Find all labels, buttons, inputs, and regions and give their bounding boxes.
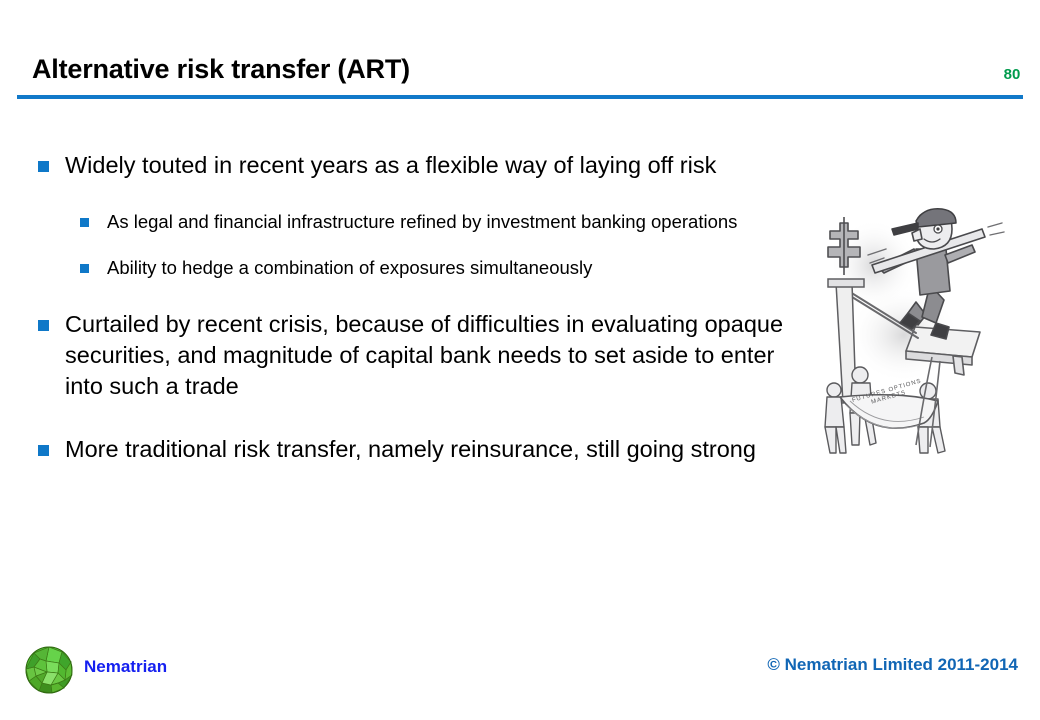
bullet-square-icon: [38, 161, 49, 172]
slide-body: Widely touted in recent years as a flexi…: [0, 150, 790, 471]
spacer: [0, 287, 790, 309]
bullet-level1: Widely touted in recent years as a flexi…: [0, 150, 790, 181]
tightrope-walker-drawing: [812, 205, 1008, 460]
bullet-text: As legal and financial infrastructure re…: [107, 209, 790, 235]
bullet-level1: Curtailed by recent crisis, because of d…: [0, 309, 790, 402]
bullet-level2: As legal and financial infrastructure re…: [0, 209, 790, 235]
bullet-text: Curtailed by recent crisis, because of d…: [65, 309, 790, 402]
page-number: 80: [992, 66, 1032, 83]
bullet-text: Ability to hedge a combination of exposu…: [107, 255, 790, 281]
bullet-square-icon: [80, 264, 89, 273]
spacer: [0, 187, 790, 209]
page-title: Alternative risk transfer (ART): [32, 54, 410, 85]
title-divider: [17, 95, 1023, 99]
bullet-level2: Ability to hedge a combination of exposu…: [0, 255, 790, 281]
bullet-square-icon: [38, 445, 49, 456]
nematrian-logo-text: Nematrian: [84, 657, 167, 677]
tightrope-walker-illustration: FUTURES OPTIONS MARKETS: [812, 205, 1008, 460]
bullet-text: Widely touted in recent years as a flexi…: [65, 150, 790, 181]
bullet-square-icon: [38, 320, 49, 331]
spacer: [0, 241, 790, 255]
bullet-square-icon: [80, 218, 89, 227]
slide: Alternative risk transfer (ART) 80 Widel…: [0, 0, 1040, 720]
nematrian-logo-icon: [22, 643, 76, 697]
bullet-text: More traditional risk transfer, namely r…: [65, 434, 790, 465]
bullet-level1: More traditional risk transfer, namely r…: [0, 434, 790, 465]
spacer: [0, 408, 790, 434]
copyright-notice: © Nematrian Limited 2011-2014: [767, 655, 1018, 675]
